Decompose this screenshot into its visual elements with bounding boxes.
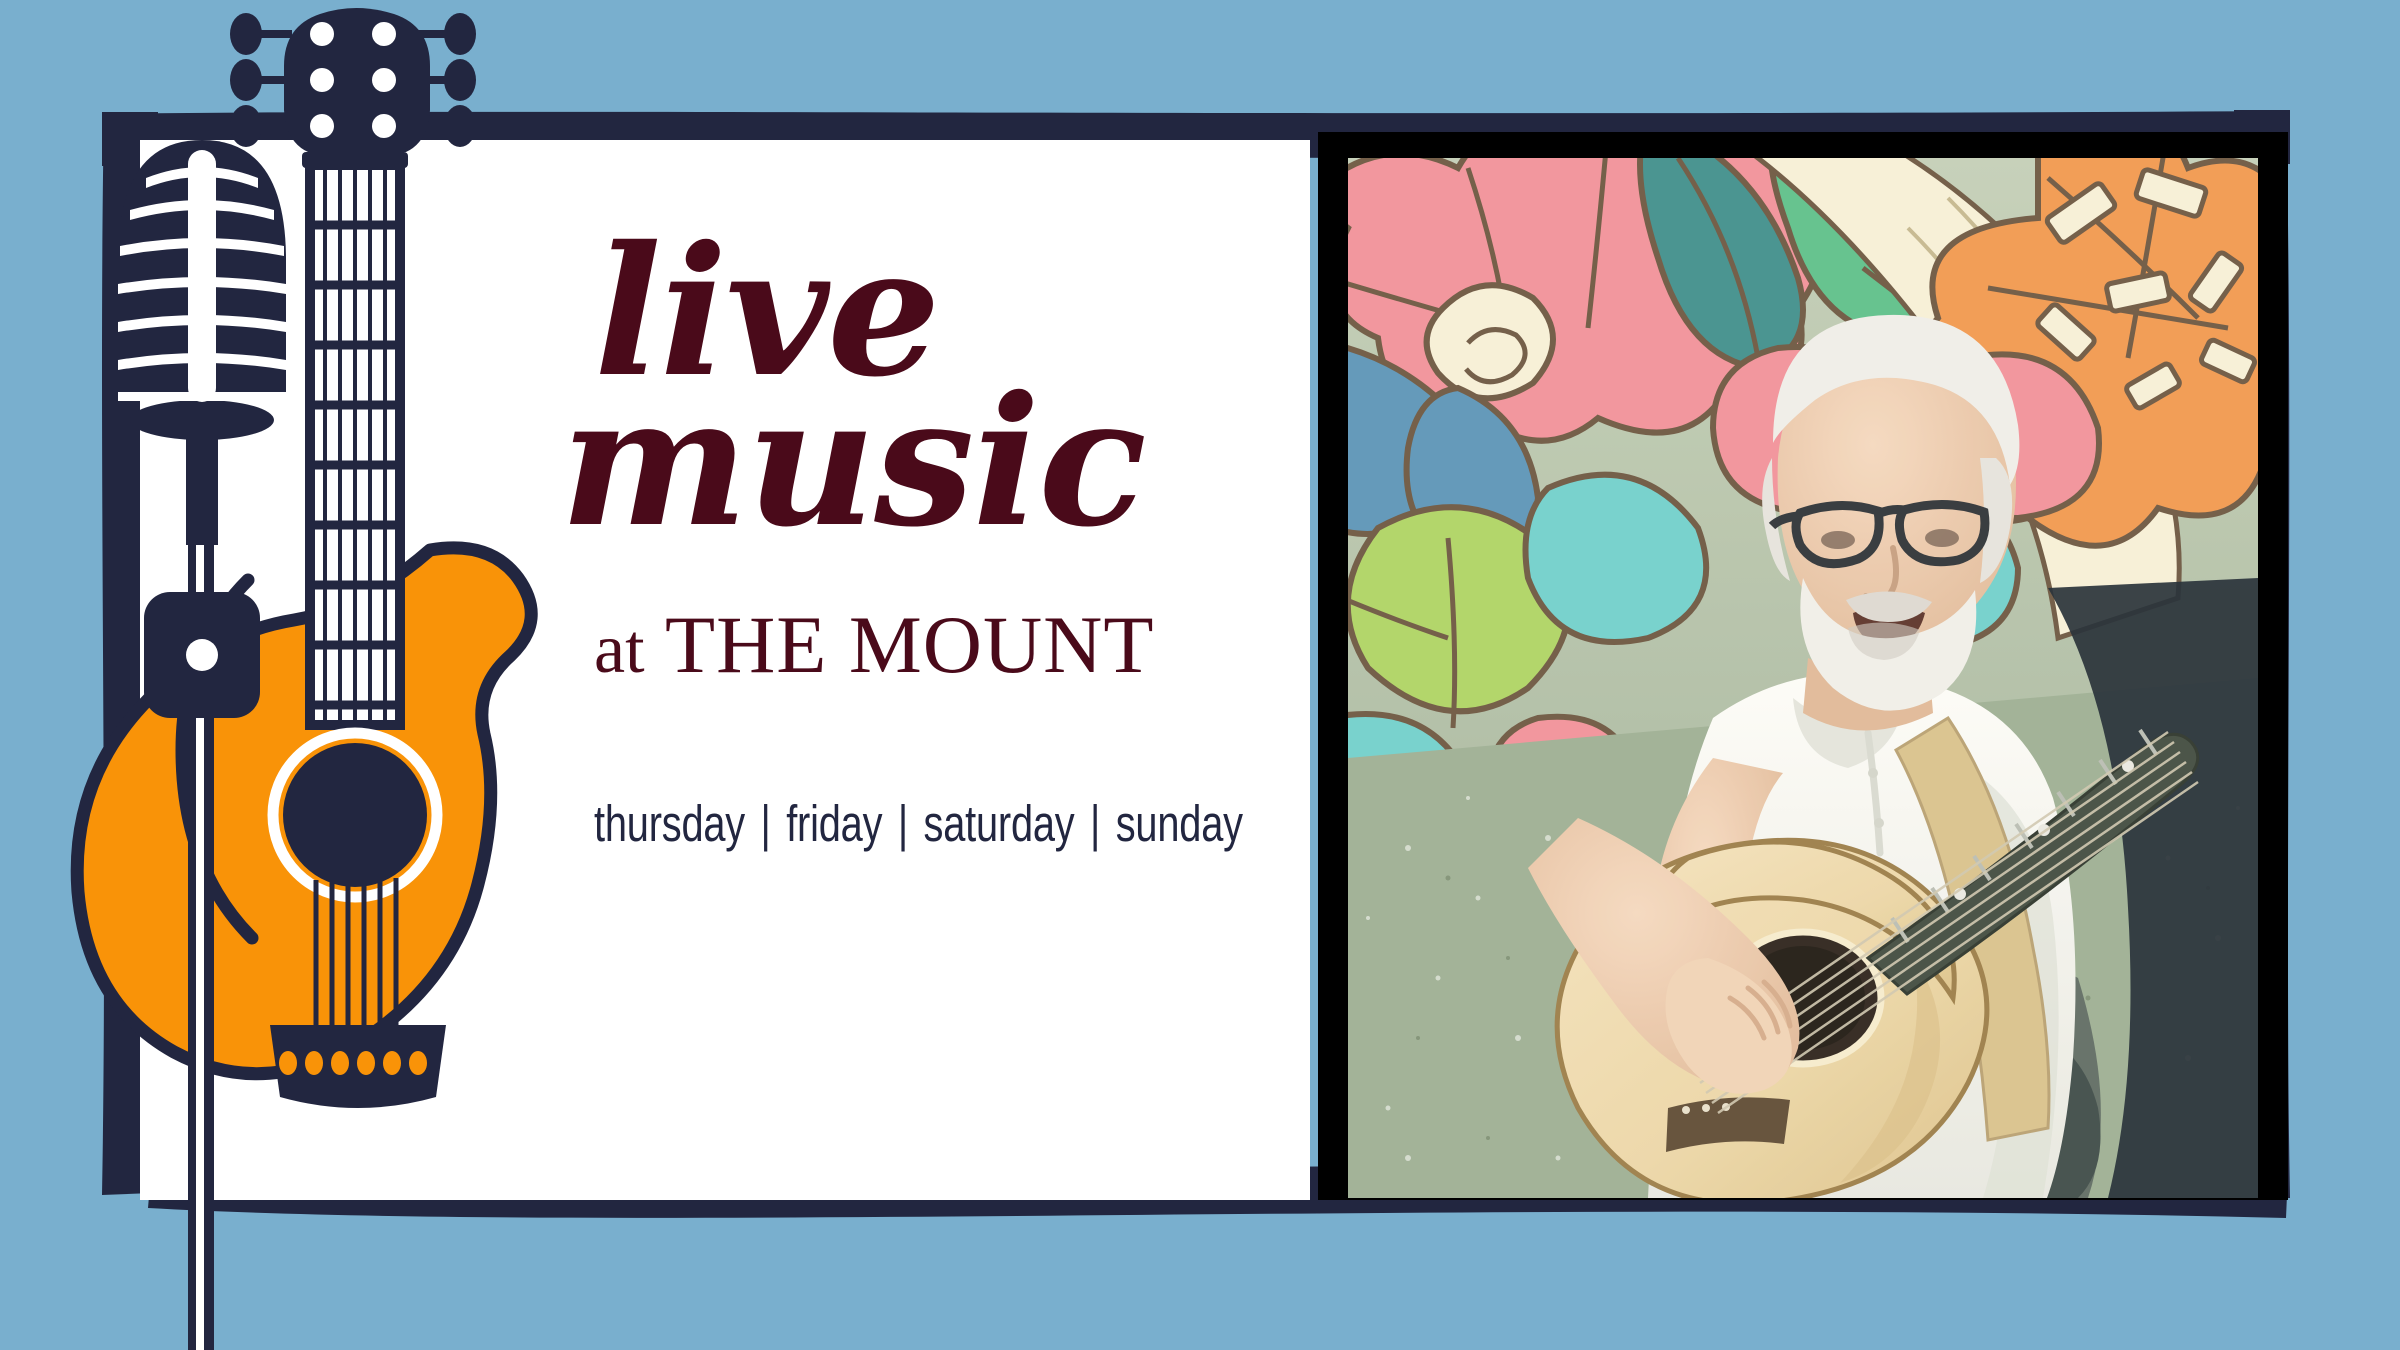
venue-name: THE MOUNT bbox=[665, 599, 1154, 690]
day-separator-1: | bbox=[756, 795, 776, 852]
photo-panel bbox=[1318, 132, 2288, 1200]
venue-prefix: at bbox=[594, 611, 645, 688]
venue-line: at THE MOUNT bbox=[594, 604, 1300, 686]
days-line: thursday | friday | saturday | sunday bbox=[594, 794, 1145, 853]
day-saturday: saturday bbox=[924, 795, 1075, 852]
poster-canvas: live music at THE MOUNT thursday | frida… bbox=[0, 0, 2400, 1350]
performance-photo bbox=[1348, 158, 2258, 1198]
headline-text-block: live music at THE MOUNT thursday | frida… bbox=[560, 230, 1300, 853]
day-thursday: thursday bbox=[594, 795, 745, 852]
day-separator-3: | bbox=[1085, 795, 1105, 852]
headline-music: music bbox=[560, 380, 1300, 544]
day-sunday: sunday bbox=[1116, 795, 1243, 852]
day-friday: friday bbox=[786, 795, 882, 852]
day-separator-2: | bbox=[893, 795, 913, 852]
